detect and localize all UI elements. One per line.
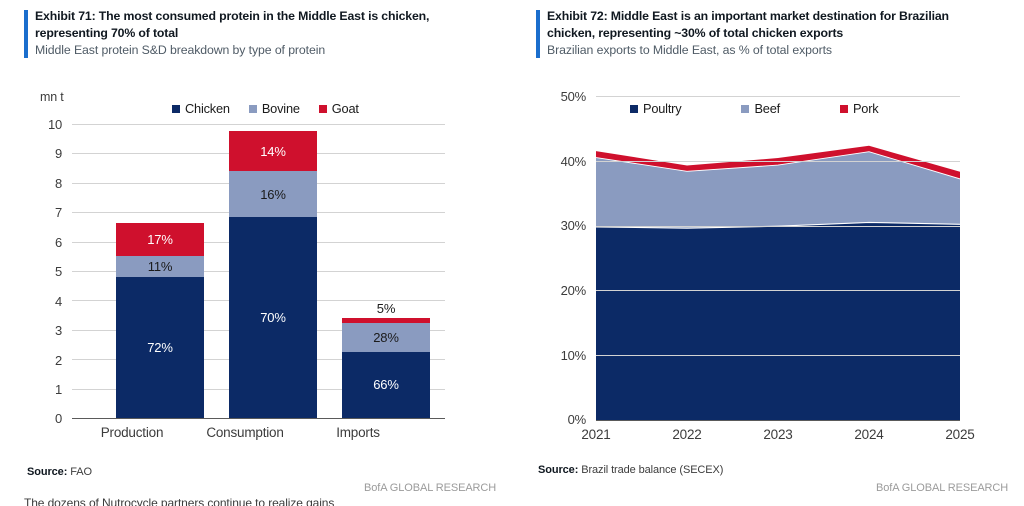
source-text: FAO: [67, 466, 92, 478]
bar-label-consumption-chicken: 70%: [260, 310, 285, 325]
y-tick-4: 4: [28, 294, 62, 309]
x-tick-2025: 2025: [914, 427, 1006, 442]
bar-imports-goat[interactable]: 5%: [342, 318, 430, 323]
gridline-40: [596, 161, 960, 162]
source-text: Brazil trade balance (SECEX): [578, 464, 723, 476]
y-tick-0: 0: [28, 411, 62, 426]
research-credit: BofA GLOBAL RESEARCH: [364, 482, 496, 494]
y-tick-2: 2: [28, 353, 62, 368]
bar-label-production-chicken: 72%: [147, 340, 172, 355]
chart-exhibit-71: 10 9 8 7 6 5 4 3 2 1 0: [0, 0, 512, 506]
research-credit: BofA GLOBAL RESEARCH: [876, 482, 1008, 494]
y-tick-5: 5: [28, 264, 62, 279]
axis-baseline: [596, 420, 960, 421]
x-tick-2021: 2021: [550, 427, 642, 442]
exhibit-page: Exhibit 71: The most consumed protein in…: [0, 0, 1024, 506]
x-tick-2024: 2024: [823, 427, 915, 442]
y-tick-3: 3: [28, 323, 62, 338]
y-tick-10: 10%: [538, 348, 586, 363]
gridline-20: [596, 290, 960, 291]
x-tick-2023: 2023: [732, 427, 824, 442]
exhibit-72-panel: Exhibit 72: Middle East is an important …: [512, 0, 1024, 506]
source-label: Source:: [27, 466, 67, 478]
cut-off-body-text: The dozens of Nutrocycle partners contin…: [24, 497, 334, 506]
bar-consumption-bovine[interactable]: 16%: [229, 171, 317, 217]
y-tick-40: 40%: [538, 154, 586, 169]
y-tick-30: 30%: [538, 218, 586, 233]
y-tick-50: 50%: [538, 89, 586, 104]
x-tick-imports: Imports: [292, 425, 424, 440]
stacked-area-series: [596, 96, 960, 420]
axis-baseline: [72, 418, 445, 419]
y-tick-8: 8: [28, 176, 62, 191]
y-tick-1: 1: [28, 382, 62, 397]
bar-imports-bovine[interactable]: 28%: [342, 323, 430, 351]
y-tick-9: 9: [28, 146, 62, 161]
source-note: Source: FAO: [27, 466, 92, 478]
bar-label-imports-bovine: 28%: [373, 330, 398, 345]
bar-label-imports-goat: 5%: [377, 301, 395, 316]
plot-area: [596, 96, 960, 420]
gridline-10: [596, 355, 960, 356]
chart-exhibit-72: 50% 40% 30% 20% 10% 0%: [512, 0, 1024, 506]
bar-production-chicken[interactable]: 72%: [116, 277, 204, 418]
bar-imports-chicken[interactable]: 66%: [342, 352, 430, 418]
bar-production-bovine[interactable]: 11%: [116, 256, 204, 278]
source-label: Source:: [538, 464, 578, 476]
y-tick-6: 6: [28, 235, 62, 250]
y-tick-20: 20%: [538, 283, 586, 298]
bar-label-production-goat: 17%: [147, 232, 172, 247]
gridline-10: [72, 124, 445, 125]
y-tick-10: 10: [28, 117, 62, 132]
y-tick-0: 0%: [538, 412, 586, 427]
bar-label-production-bovine: 11%: [148, 259, 172, 274]
bar-label-consumption-bovine: 16%: [260, 187, 285, 202]
bar-consumption-goat[interactable]: 14%: [229, 131, 317, 171]
bar-production-goat[interactable]: 17%: [116, 223, 204, 256]
y-tick-7: 7: [28, 205, 62, 220]
area-poultry[interactable]: [596, 222, 960, 420]
source-note: Source: Brazil trade balance (SECEX): [538, 464, 723, 476]
bar-label-imports-chicken: 66%: [373, 377, 398, 392]
x-tick-2022: 2022: [641, 427, 733, 442]
plot-area: 72% 11% 17% 70% 16% 14%: [72, 124, 445, 418]
bar-consumption-chicken[interactable]: 70%: [229, 217, 317, 418]
bar-label-consumption-goat: 14%: [260, 144, 285, 159]
gridline-30: [596, 226, 960, 227]
gridline-50: [596, 96, 960, 97]
exhibit-71-panel: Exhibit 71: The most consumed protein in…: [0, 0, 512, 506]
